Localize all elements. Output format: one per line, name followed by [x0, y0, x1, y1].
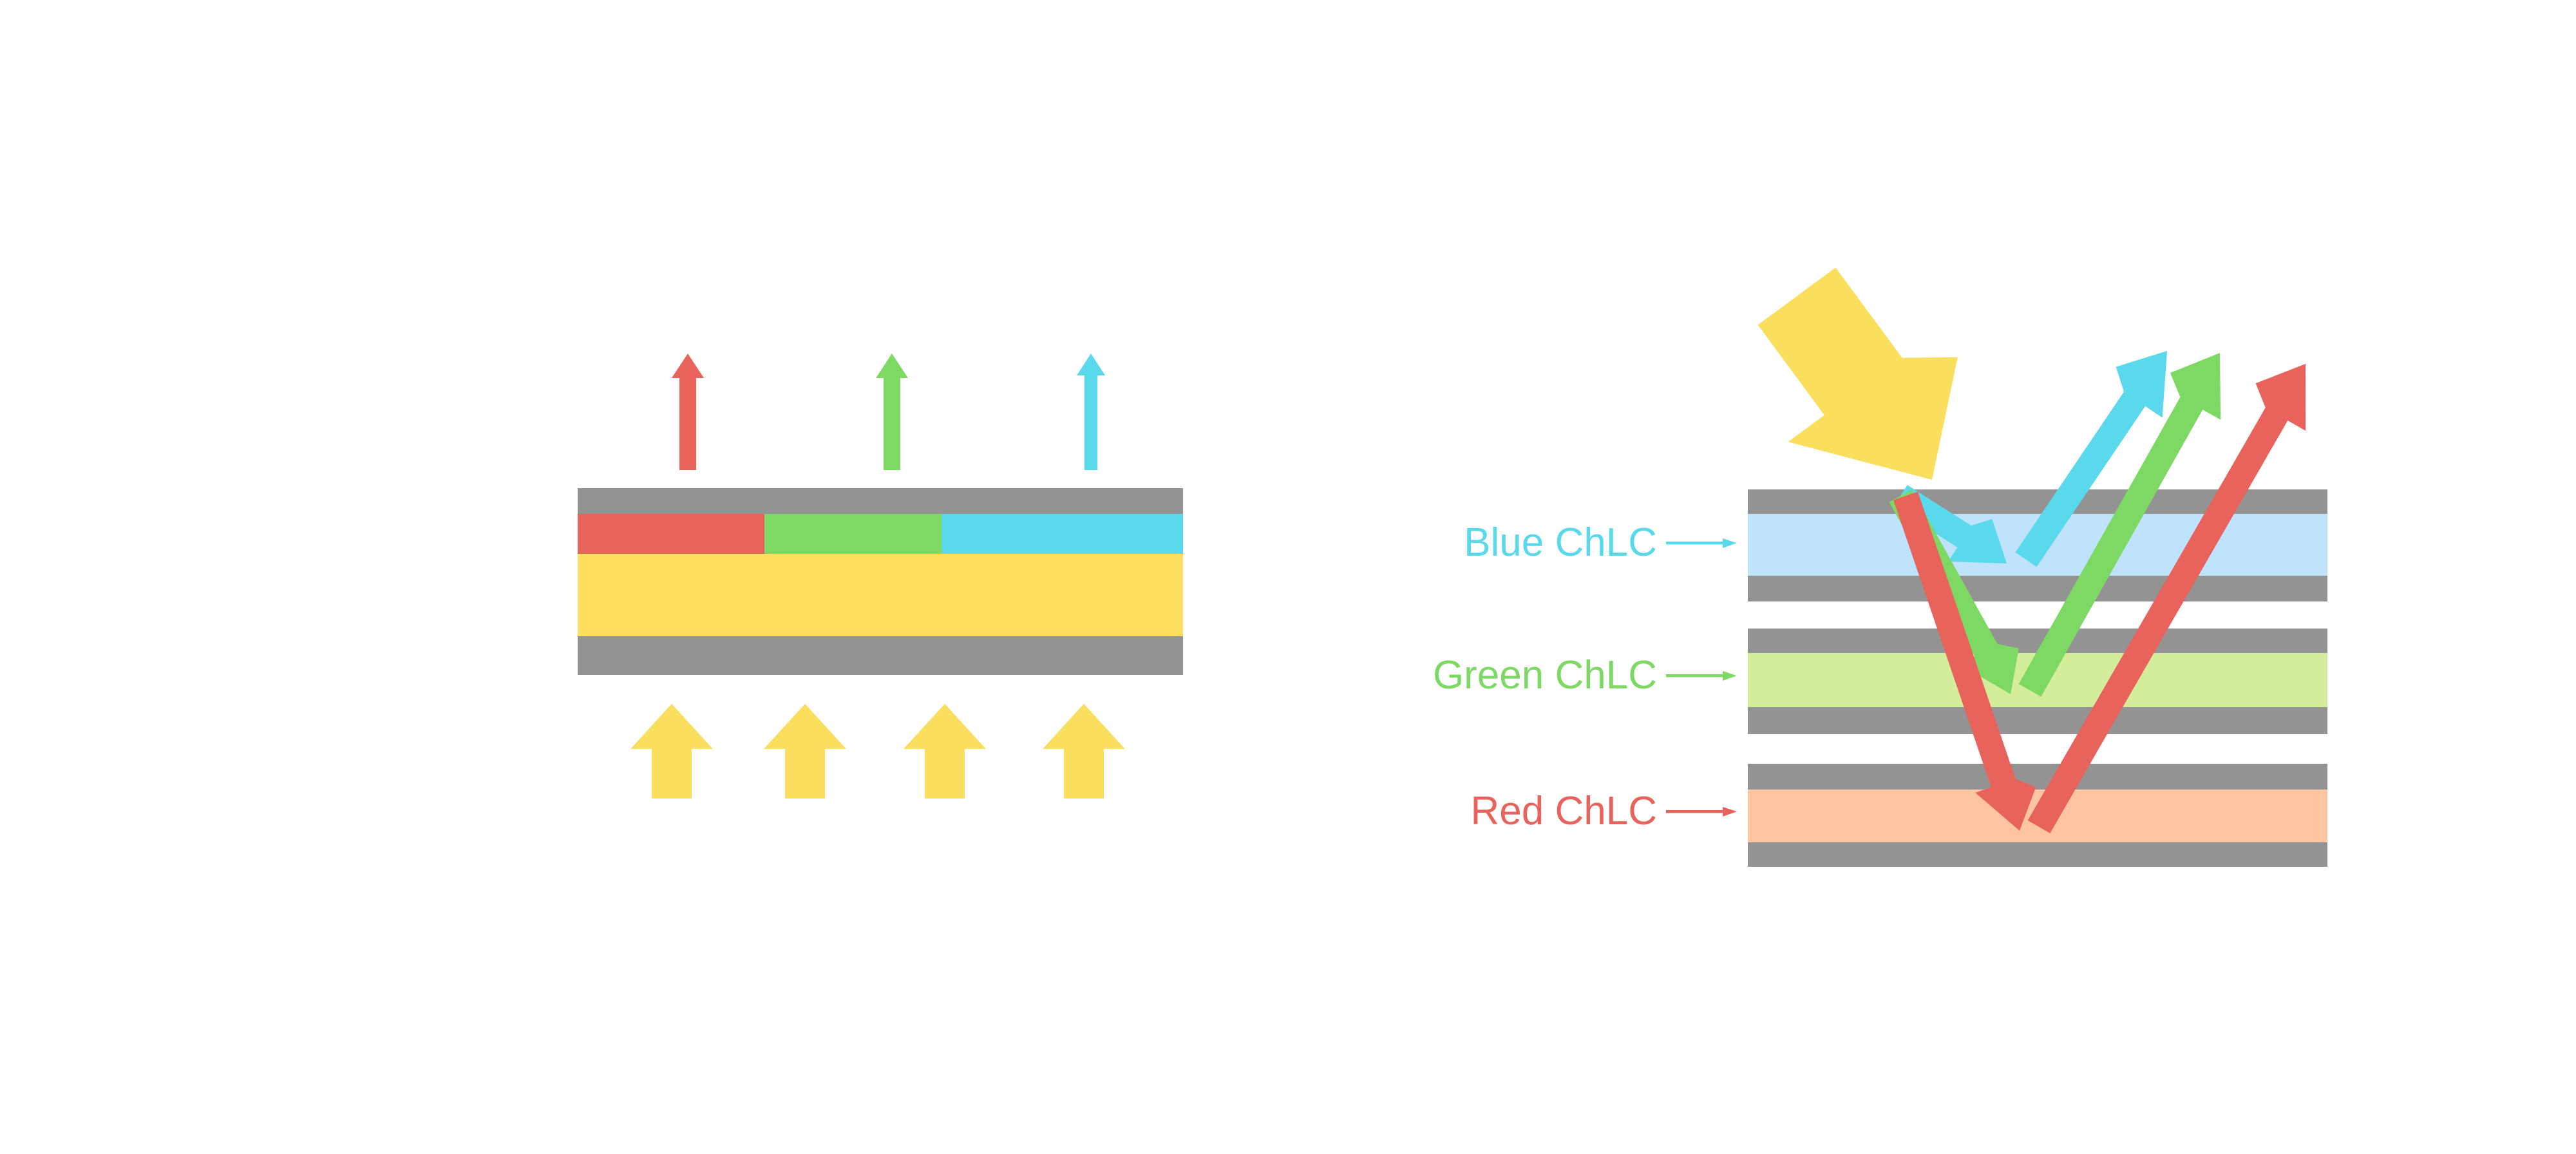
- green-cell-bottom-electrode: [1748, 707, 2327, 734]
- label-pointer-arrow-icon: [1666, 666, 1737, 685]
- blue-cell-bottom-electrode: [1748, 576, 2327, 601]
- red-cell-top-electrode: [1748, 764, 2327, 790]
- green-chlc-label-text: Green ChLC: [1433, 652, 1657, 698]
- backlight-arrow-3: [904, 704, 986, 799]
- figure-root: Blue ChLCGreen ChLCRed ChLC: [0, 0, 2576, 1154]
- label-pointer-arrow-icon: [1666, 802, 1737, 821]
- blue-chlc-label: Blue ChLC: [0, 520, 1742, 565]
- green-chlc-label: Green ChLC: [0, 652, 1742, 698]
- blue-emission: [1077, 354, 1105, 470]
- backlight-emitter-layer: [578, 554, 1183, 636]
- red-emission: [672, 354, 704, 470]
- red-chlc-label: Red ChLC: [0, 788, 1742, 834]
- diagram-canvas: [0, 0, 2576, 1154]
- backlight-arrow-1: [630, 704, 713, 799]
- white-light-incident-arrow: [1758, 268, 1958, 480]
- green-cell-top-electrode: [1748, 629, 2327, 653]
- red-chlc-label-text: Red ChLC: [1471, 788, 1657, 834]
- backlight-arrow-4: [1043, 704, 1125, 799]
- label-pointer-arrow-icon: [1666, 533, 1737, 553]
- green-emission: [876, 354, 908, 470]
- backlight-arrow-2: [764, 704, 846, 799]
- red-cell-bottom-electrode: [1748, 842, 2327, 867]
- blue-chlc-label-text: Blue ChLC: [1464, 520, 1657, 565]
- top-electrode-layer: [578, 488, 1183, 514]
